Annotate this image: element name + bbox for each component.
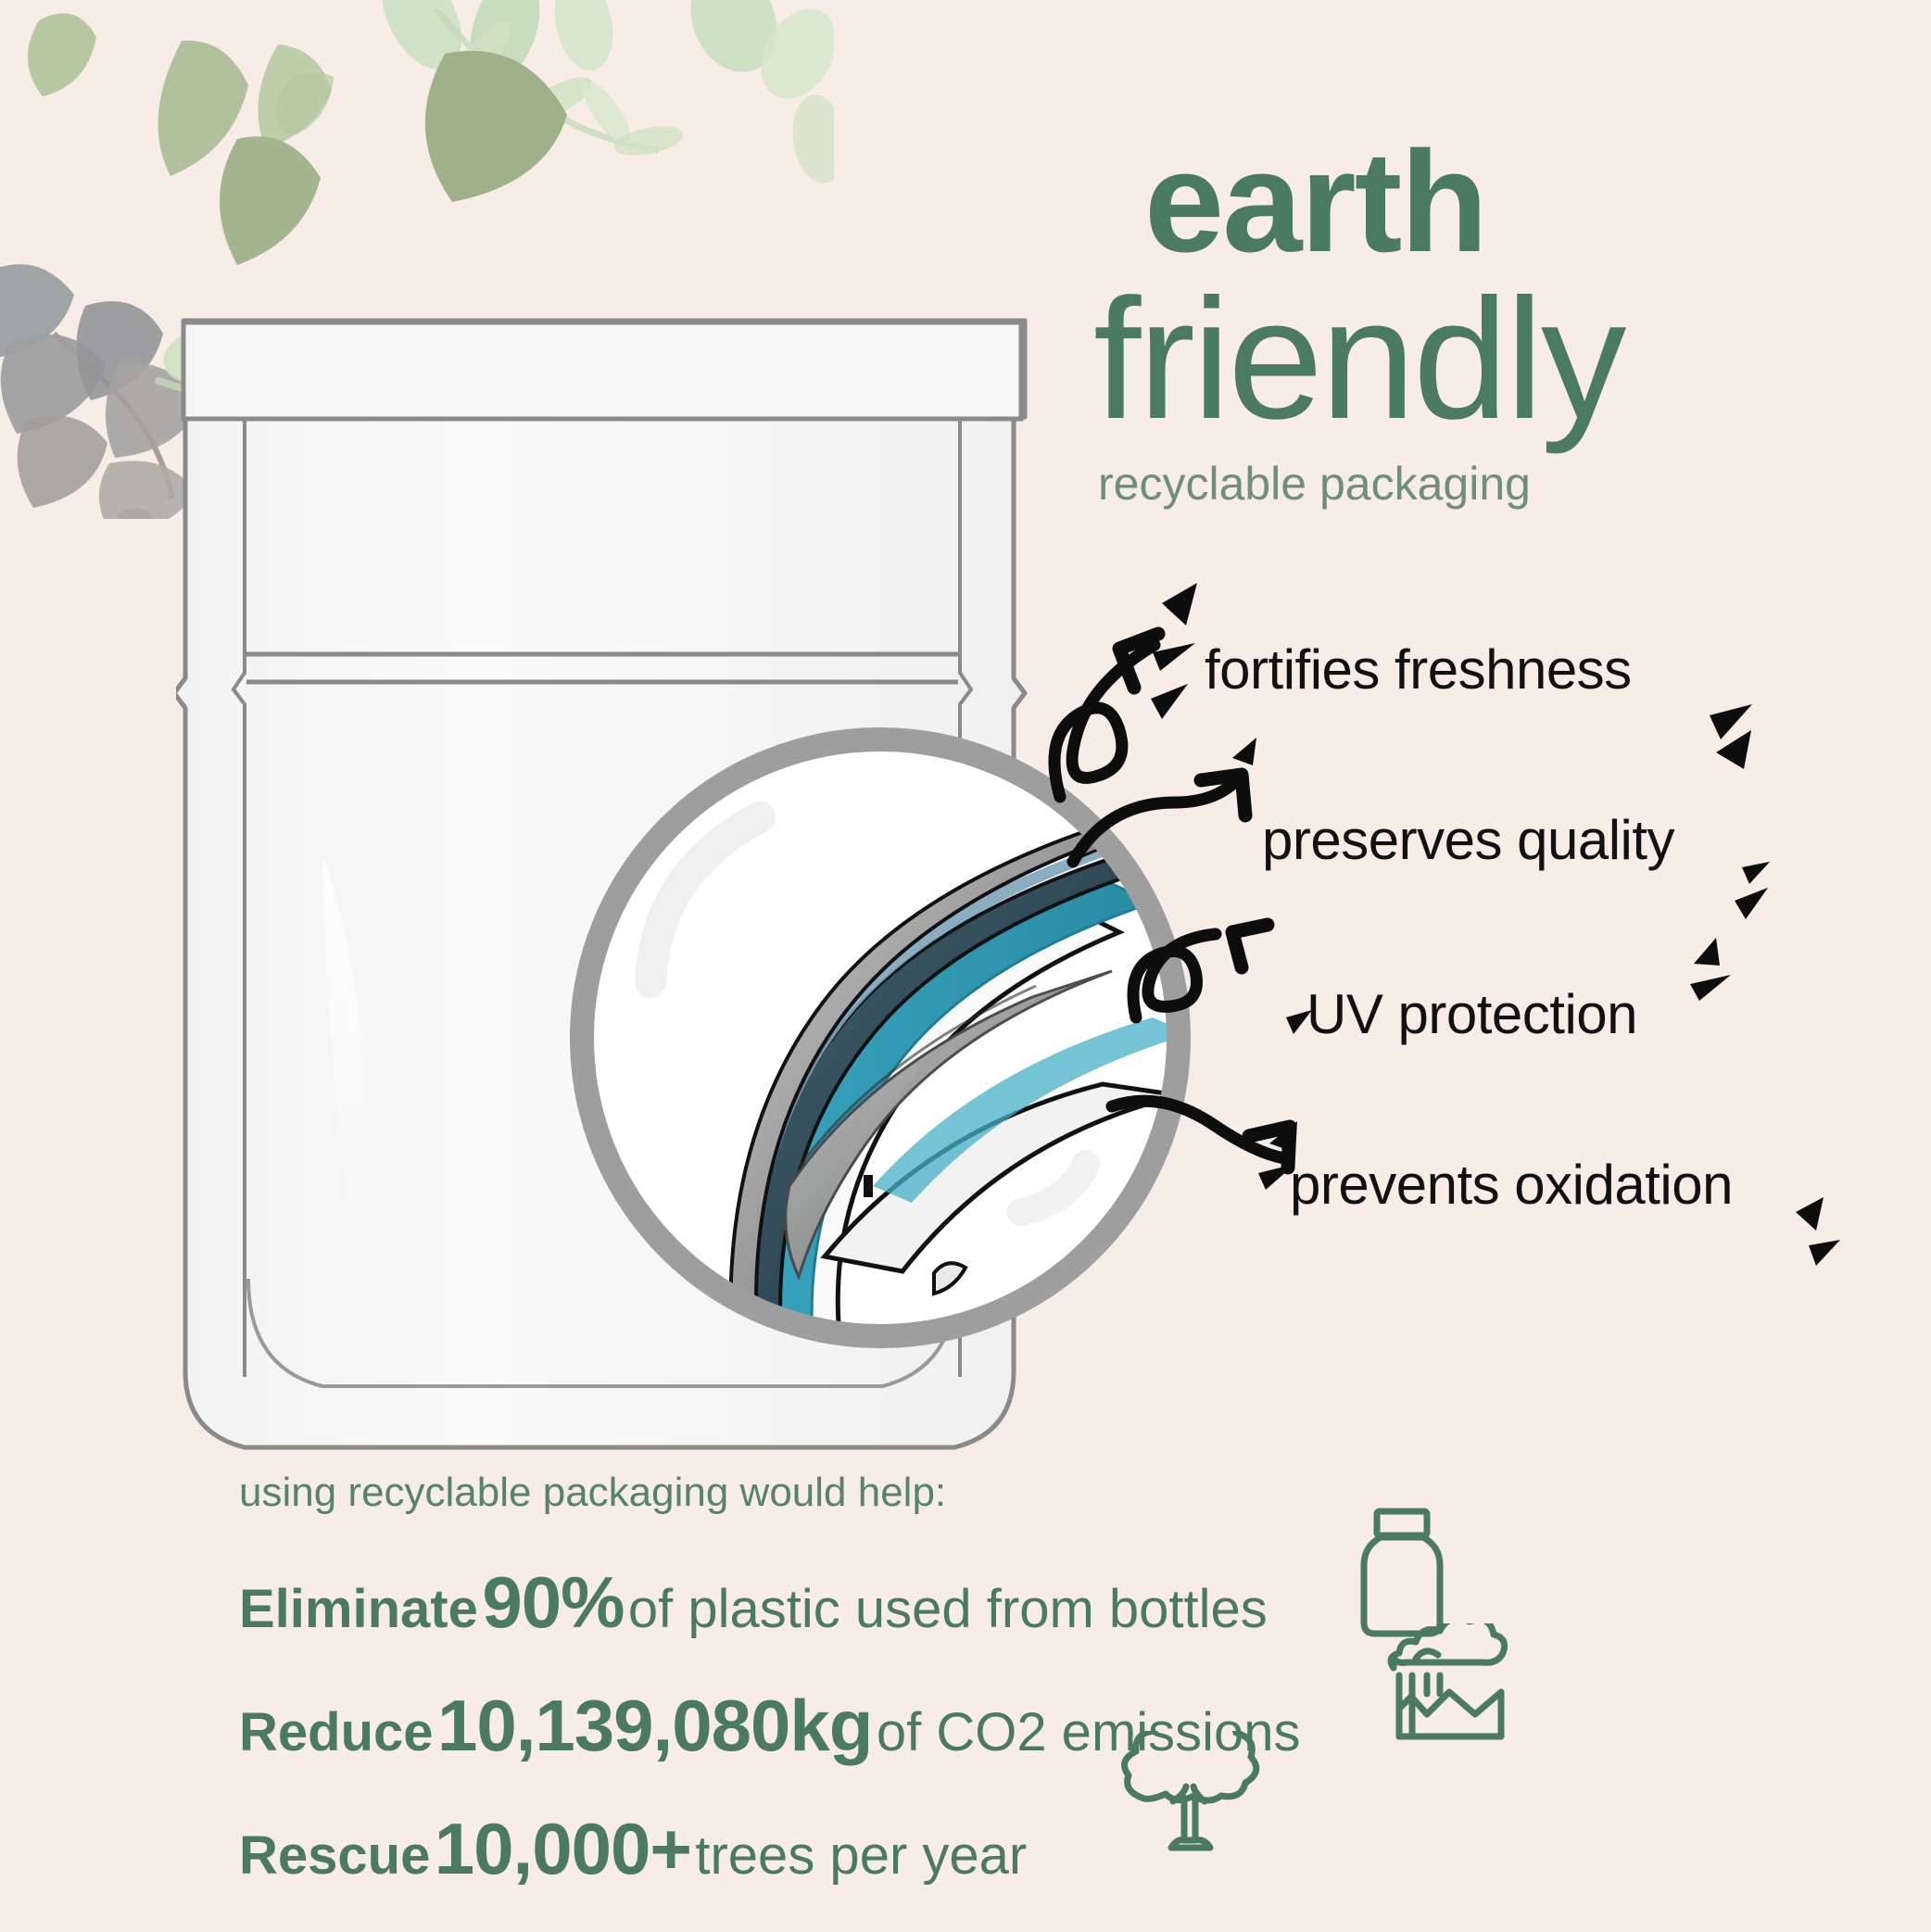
stat-verb: Reduce	[239, 1702, 434, 1762]
leaf-icon	[458, 0, 552, 91]
leaf-icon	[425, 51, 567, 202]
tree-icon	[1106, 1731, 1273, 1870]
sparkle-icon	[1690, 975, 1731, 1001]
stat-tail: of plastic used from bottles	[628, 1579, 1268, 1639]
smoke-cloud	[1391, 1623, 1505, 1668]
tree-canopy	[1125, 1731, 1256, 1800]
magnified-material-layers	[547, 704, 1214, 1371]
leaf-bud-icon	[104, 503, 171, 519]
leaf-icon	[547, 0, 621, 76]
sparkle-icon	[1735, 888, 1768, 919]
stat-number: 10,000+	[435, 1808, 691, 1889]
leaf-icon	[675, 0, 793, 86]
factory-icon	[1379, 1623, 1518, 1753]
sparkle-icon	[1796, 1197, 1824, 1231]
leaf-icon	[746, 0, 834, 112]
stat-number: 90%	[482, 1561, 624, 1643]
stat-row: Rescue 10,000+ trees per year	[239, 1807, 1629, 1891]
tree-base	[1171, 1840, 1210, 1848]
leaf-icon	[1, 335, 106, 434]
stat-tail: trees per year	[695, 1825, 1027, 1886]
feature-label-fortifies-freshness: fortifies freshness	[1205, 638, 1632, 701]
leaf-icon	[513, 69, 599, 132]
sparkle-icon	[1809, 1240, 1840, 1266]
pouch-top-seal	[183, 322, 1021, 419]
feature-label-prevents-oxidation: prevents oxidation	[1290, 1153, 1733, 1217]
headline-block: earth friendly recyclable packaging	[1093, 130, 1927, 511]
leaf-icon	[612, 120, 686, 160]
stat-verb: Eliminate	[239, 1579, 478, 1639]
earth-friendly-packaging-infographic: earth friendly recyclable packaging fort…	[0, 0, 1931, 1932]
leaf-stem	[435, 9, 658, 150]
tree-trunk	[1184, 1798, 1195, 1840]
headline-line-1: earth	[1093, 130, 1927, 273]
sparkle-icon	[1269, 1121, 1297, 1153]
leaf-icon	[28, 13, 96, 96]
sparkle-icon	[1694, 938, 1720, 966]
leaf-icon	[76, 301, 163, 400]
leaf-icon	[220, 136, 321, 265]
leaf-icon	[274, 71, 334, 136]
leaf-icon	[788, 92, 834, 187]
sparkle-icon	[1710, 704, 1752, 739]
arrow-head	[1119, 634, 1158, 688]
sparkle-icon	[1232, 738, 1256, 765]
arrow-head	[1249, 1127, 1290, 1168]
stat-verb: Rescue	[239, 1825, 430, 1886]
sparkle-icon	[1162, 583, 1197, 625]
headline-line-2: friendly	[1093, 279, 1927, 442]
leaf-icon	[158, 41, 248, 176]
feature-label-preserves-quality: preserves quality	[1262, 808, 1674, 872]
bottle-cap	[1377, 1511, 1427, 1535]
leaf-icon	[365, 0, 478, 83]
leaf-vein	[452, 67, 556, 195]
leaf-icon	[575, 75, 639, 151]
sparkle-icon	[1153, 643, 1195, 671]
leaf-icon	[259, 44, 332, 148]
sparkle-icon	[1716, 730, 1751, 769]
factory-roof	[1399, 1692, 1501, 1736]
feature-label-uv-protection: UV protection	[1306, 982, 1637, 1046]
arrow-head	[1232, 925, 1268, 967]
leaf-icon	[444, 13, 520, 98]
sparkle-icon	[1742, 862, 1770, 884]
smoke-puff	[1416, 1651, 1438, 1659]
bottle-body	[1364, 1537, 1440, 1634]
leaf-stem	[54, 334, 172, 499]
headline-subtitle: recyclable packaging	[1093, 457, 1927, 511]
layer-notch	[864, 1175, 873, 1197]
leaf-icon	[18, 416, 107, 508]
stat-number: 10,139,080kg	[437, 1685, 872, 1766]
leaf-icon	[0, 264, 74, 358]
